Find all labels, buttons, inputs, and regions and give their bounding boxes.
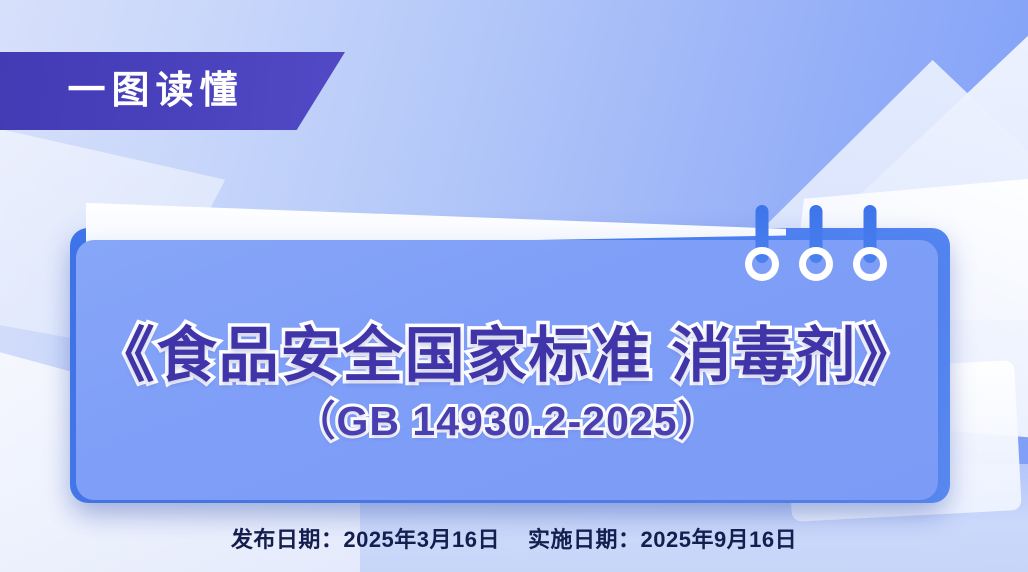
release-date: 发布日期：2025年3月16日 [231,522,500,554]
title-block: 《食品安全国家标准 消毒剂》 （GB 14930.2-2025） [76,240,938,500]
effective-date: 实施日期：2025年9月16日 [528,522,797,554]
title-card-stack: 《食品安全国家标准 消毒剂》 （GB 14930.2-2025） [0,0,1028,572]
standard-title: 《食品安全国家标准 消毒剂》 [95,322,920,389]
poster-canvas: 一图读懂 《食品安全国家标准 消毒剂》 （GB 14930.2-2025） 发布… [0,0,1028,572]
date-row: 发布日期：2025年3月16日 实施日期：2025年9月16日 [0,522,1028,554]
standard-code: （GB 14930.2-2025） [295,399,720,444]
